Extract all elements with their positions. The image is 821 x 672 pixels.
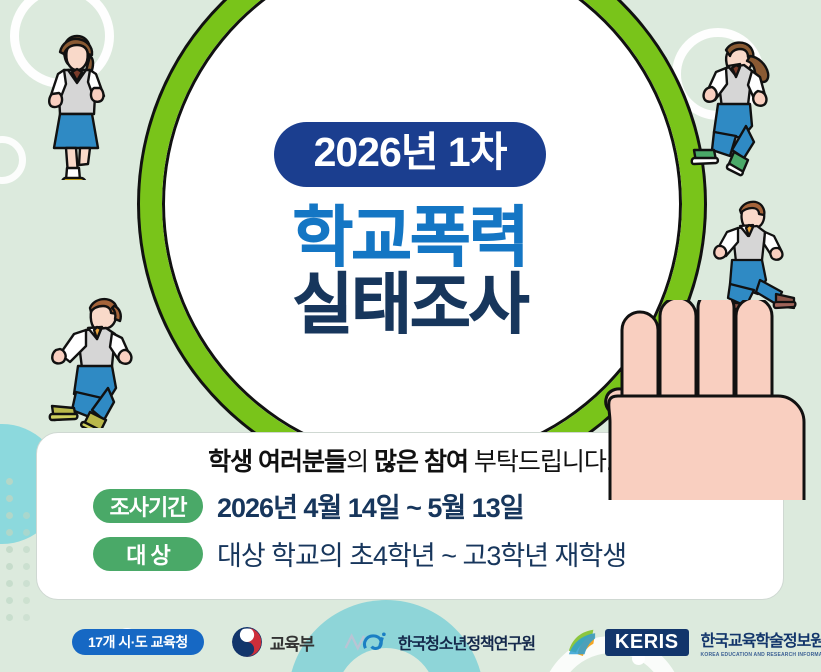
student-walking-boy-illustration [26,292,166,433]
keris-text-block: 한국교육학술정보원 KOREA EDUCATION AND RESEARCH I… [701,627,821,658]
value-survey-period: 2026년 4월 14일 ~ 5월 13일 [217,486,524,525]
logo-nypi: 한국청소년정책연구원 [344,630,535,654]
keris-label-ko: 한국교육학술정보원 [701,627,821,651]
offices-badge: 17개 시·도 교육청 [72,629,204,655]
poster-canvas: 2026년 1차 학교폭력 실태조사 학생 여러분들의 많은 참여 부탁드립니다… [0,0,821,672]
keris-wordmark: KERIS [605,629,689,656]
headline-normal-2: 부탁드립니다. [468,448,612,476]
title-line-2: 실태조사 [293,270,528,339]
hand-holding-magnifier-illustration [592,300,821,505]
keris-leaf-icon [567,628,597,656]
taegeuk-icon [232,627,262,657]
label-badge-target: 대 상 [93,537,203,571]
info-row-target: 대 상 대상 학교의 초4학년 ~ 고3학년 재학생 [37,534,783,573]
nypi-logo-icon [344,631,390,653]
logo-keris: KERIS 한국교육학술정보원 KOREA EDUCATION AND RESE… [567,627,821,658]
logo-moe: 교육부 [232,627,314,657]
year-pill-badge: 2026년 1차 [274,122,547,187]
footer-logo-bar: 17개 시·도 교육청 교육부 한국청소년정책연구원 [0,612,821,672]
keris-label-en: KOREA EDUCATION AND RESEARCH INFORMATION… [701,652,821,658]
nypi-label: 한국청소년정책연구원 [398,630,535,654]
title-line-1: 학교폭력 [293,203,528,272]
moe-label: 교육부 [270,630,314,655]
headline-bold-2: 많은 참여 [374,448,468,476]
headline-bold-1: 학생 여러분들 [208,448,346,476]
label-badge-period: 조사기간 [93,489,203,523]
value-survey-target: 대상 학교의 초4학년 ~ 고3학년 재학생 [217,534,626,573]
student-cheering-girl-illustration [22,28,134,185]
student-running-ponytail-illustration [676,34,796,184]
headline-normal-1: 의 [346,448,374,476]
